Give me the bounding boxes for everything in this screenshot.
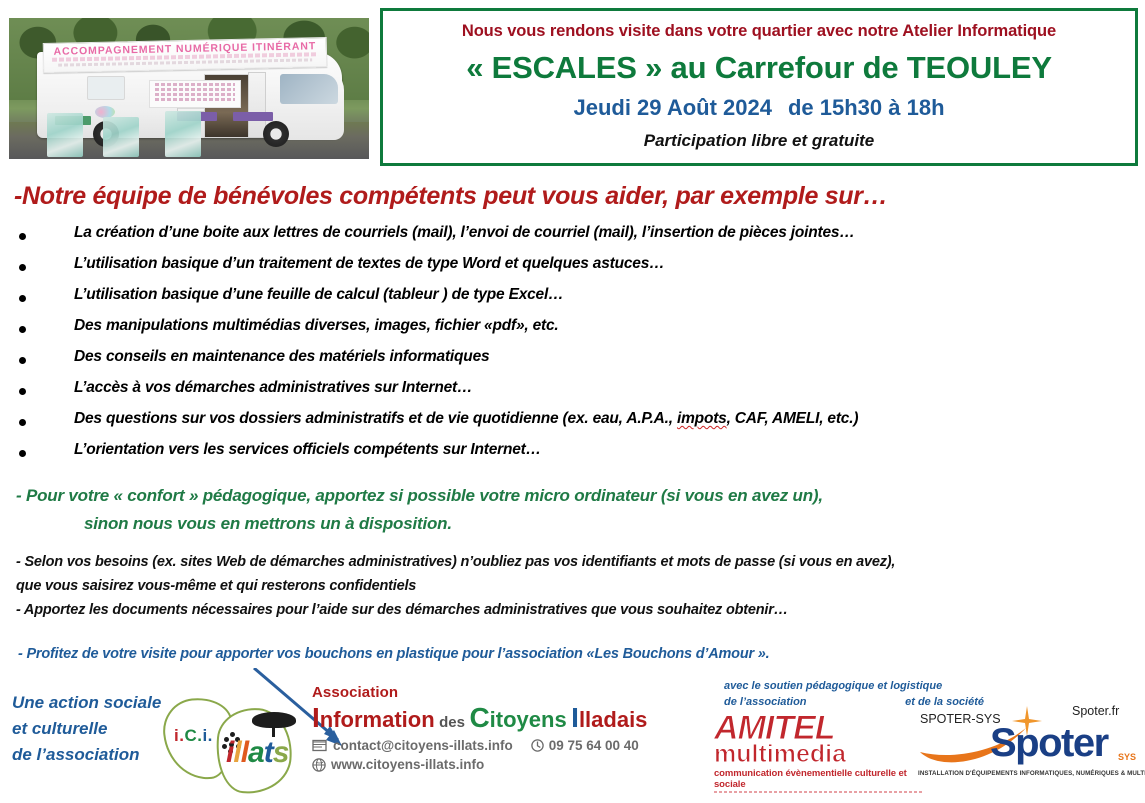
bullet-dot-icon	[19, 419, 26, 426]
bullet-dot-icon	[19, 233, 26, 240]
header-datetime: Jeudi 29 Août 2024de 15h30 à 18h	[383, 95, 1135, 121]
support-line2a: de l’association	[724, 694, 807, 710]
spoter-wordmark: Spoter	[990, 722, 1108, 764]
support-line1: avec le soutien pédagogique et logistiqu…	[724, 678, 984, 694]
list-item: Des questions sur vos dossiers administr…	[14, 410, 1074, 441]
header-title: « ESCALES » au Carrefour de TEOULEY	[383, 50, 1135, 86]
spoter-tagline: INSTALLATION D'ÉQUIPEMENTS INFORMATIQUES…	[918, 770, 1145, 777]
email-address: contact@citoyens-illats.info	[333, 738, 513, 753]
bullet-dot-icon	[19, 388, 26, 395]
list-item-suffix: , CAF, AMELI, etc.)	[727, 410, 859, 427]
van-side-window	[87, 76, 125, 100]
assoc-tagline-line3: de l’association	[12, 742, 161, 768]
flyer-page: ACCOMPAGNEMENT NUMÉRIQUE ITINÉRANT Nous …	[0, 0, 1145, 803]
title-nformation: nformation	[320, 707, 435, 732]
list-item: Des conseils en maintenance des matériel…	[14, 348, 1074, 379]
header-free-participation: Participation libre et gratuite	[383, 131, 1135, 151]
title-des: des	[439, 714, 465, 731]
ici-i2: i.	[202, 726, 212, 745]
header-intro-line: Nous vous rendons visite dans votre quar…	[383, 22, 1135, 41]
support-line2b: et de la société	[905, 694, 984, 710]
amitel-underline	[714, 791, 922, 793]
association-tagline: Une action sociale et culturelle de l’as…	[12, 690, 161, 768]
support-credit: avec le soutien pédagogique et logistiqu…	[724, 678, 984, 710]
list-item-label: L’utilisation basique d’un traitement de…	[74, 255, 664, 273]
spellcheck-error-word: impots	[677, 410, 727, 427]
list-item-prefix: Des questions sur vos dossiers administr…	[74, 410, 677, 427]
black-note-line2: que vous saisirez vous-même et qui reste…	[16, 574, 1126, 598]
amitel-tagline: communication évènementielle culturelle …	[714, 768, 922, 790]
website-url: www.citoyens-illats.info	[331, 757, 484, 772]
footer: Une action sociale et culturelle de l’as…	[0, 676, 1145, 803]
title-lladais: lladais	[579, 707, 647, 732]
assoc-tagline-line2: et culturelle	[12, 716, 161, 742]
camper-van-photo: ACCOMPAGNEMENT NUMÉRIQUE ITINÉRANT	[9, 18, 369, 159]
list-item-label: Des manipulations multimédias diverses, …	[74, 317, 559, 335]
amitel-logo: AMITEL multimedia communication évènemen…	[714, 712, 922, 770]
amitel-multimedia-word: multimedia	[714, 742, 922, 767]
mail-icon	[312, 739, 328, 752]
list-item: La création d’une boite aux lettres de c…	[14, 224, 1074, 255]
list-item: L’utilisation basique d’un traitement de…	[14, 255, 1074, 286]
assoc-tagline-line1: Une action sociale	[12, 690, 161, 716]
bullet-dot-icon	[19, 326, 26, 333]
list-item: L’orientation vers les services officiel…	[14, 441, 1074, 472]
green-note-line2: sinon nous vous en mettrons un à disposi…	[16, 510, 1116, 538]
green-advice-note: - Pour votre « confort » pédagogique, ap…	[16, 482, 1116, 538]
list-item-label-spellchecked: Des questions sur vos dossiers administr…	[74, 410, 858, 428]
bullet-dot-icon	[19, 264, 26, 271]
spoter-fr-label: Spoter.fr	[1072, 704, 1119, 718]
globe-icon	[312, 758, 326, 772]
list-item-label: L’accès à vos démarches administratives …	[74, 379, 472, 397]
spoter-sys-suffix: SYS	[1118, 752, 1136, 762]
bullet-dot-icon	[19, 295, 26, 302]
title-itoyens: itoyens	[490, 707, 567, 732]
help-topics-list: La création d’une boite aux lettres de c…	[14, 224, 1074, 472]
header-date: Jeudi 29 Août 2024	[573, 95, 771, 120]
contact-email-row[interactable]: contact@citoyens-illats.info 09 75 64 00…	[312, 738, 692, 753]
lead-heading: -Notre équipe de bénévoles compétents pe…	[14, 182, 1074, 211]
spoter-logo: Spoter SYS INSTALLATION D'ÉQUIPEMENTS IN…	[918, 722, 1142, 780]
van-windshield	[280, 74, 338, 104]
header-time: de 15h30 à 18h	[788, 95, 945, 120]
black-advice-note: - Selon vos besoins (ex. sites Web de dé…	[16, 550, 1126, 622]
black-note-line1: - Selon vos besoins (ex. sites Web de dé…	[16, 550, 1126, 574]
green-note-line1: - Pour votre « confort » pédagogique, ap…	[16, 486, 823, 505]
event-header-box: Nous vous rendons visite dans votre quar…	[380, 8, 1138, 166]
bullet-dot-icon	[19, 357, 26, 364]
list-item: L’accès à vos démarches administratives …	[14, 379, 1074, 410]
ici-i1: i.	[174, 726, 184, 745]
list-item: Des manipulations multimédias diverses, …	[14, 317, 1074, 348]
list-item-label: La création d’une boite aux lettres de c…	[74, 224, 855, 242]
title-letter-c: C	[469, 702, 489, 733]
list-item: L’utilisation basique d’une feuille de c…	[14, 286, 1074, 317]
van-inner-sign	[149, 80, 241, 108]
ici-c: C.	[184, 726, 202, 745]
bullet-dot-icon	[19, 450, 26, 457]
van-roof-banner: ACCOMPAGNEMENT NUMÉRIQUE ITINÉRANT	[43, 37, 328, 73]
bouchons-note: - Profitez de votre visite pour apporter…	[18, 646, 769, 662]
list-item-label: L’orientation vers les services officiel…	[74, 441, 541, 459]
list-item-label: Des conseils en maintenance des matériel…	[74, 348, 489, 366]
association-word: Association	[312, 684, 692, 701]
black-note-line3: - Apportez les documents nécessaires pou…	[16, 598, 1126, 622]
contact-website-row[interactable]: www.citoyens-illats.info	[312, 757, 692, 772]
van-wheel-front	[263, 121, 289, 147]
title-letter-i2: I	[571, 702, 579, 733]
top-row: ACCOMPAGNEMENT NUMÉRIQUE ITINÉRANT Nous …	[0, 0, 1145, 178]
phone-icon	[531, 739, 544, 752]
list-item-label: L’utilisation basique d’une feuille de c…	[74, 286, 563, 304]
association-identity: Association Information des Citoyens Ill…	[312, 684, 692, 772]
photo-chairs	[47, 109, 247, 157]
title-letter-i: I	[312, 702, 320, 733]
phone-number: 09 75 64 00 40	[549, 738, 639, 753]
ici-initials: i.C.i.	[174, 726, 213, 746]
association-full-name: Information des Citoyens Illadais	[312, 702, 692, 734]
